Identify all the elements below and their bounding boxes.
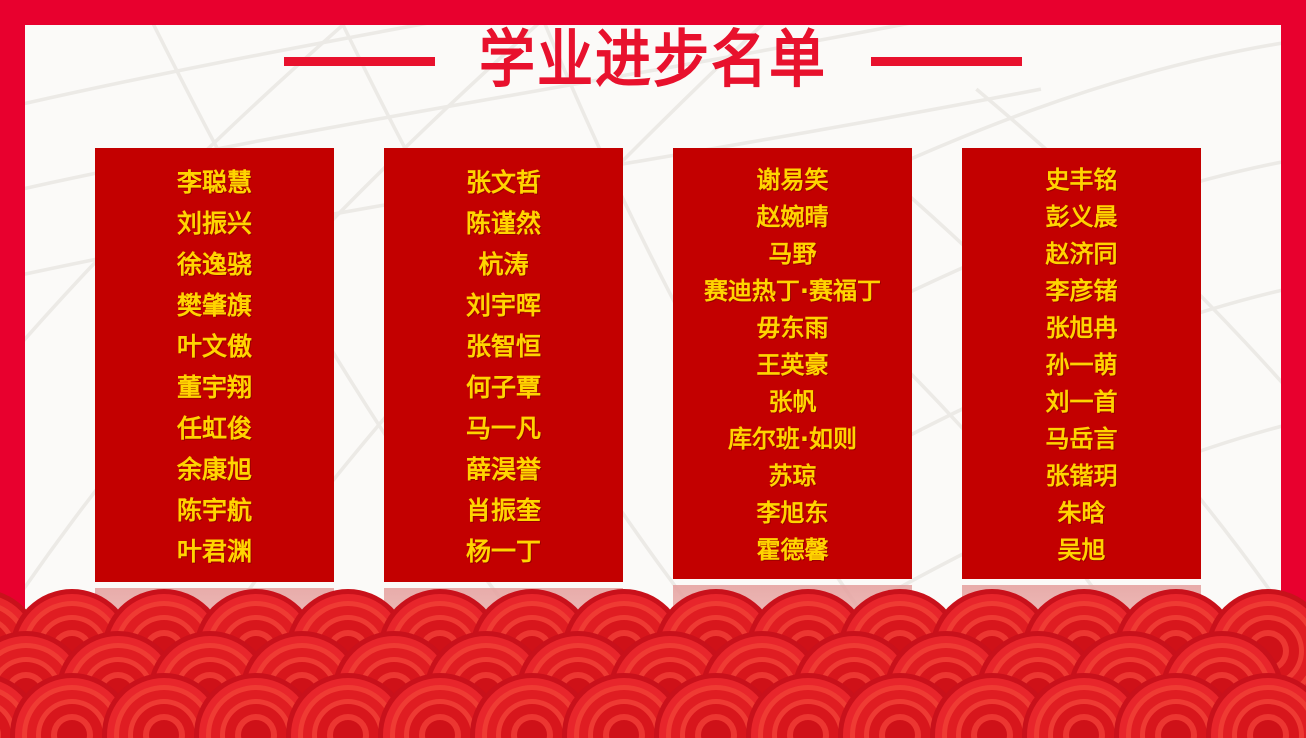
name-item: 毋东雨 — [757, 310, 829, 347]
title-rule-left — [284, 57, 435, 66]
name-item: 叶君渊 — [177, 531, 252, 572]
name-item: 赵济同 — [1046, 236, 1118, 273]
name-panel-2: 张文哲 陈谨然 杭涛 刘宇晖 张智恒 何子覃 马一凡 薛淏誉 肖振奎 杨一丁 — [384, 148, 623, 582]
name-item: 张文哲 — [466, 162, 541, 203]
name-item: 杭涛 — [478, 244, 528, 285]
panel-fade-4 — [962, 585, 1201, 705]
title-rule-right — [871, 57, 1022, 66]
name-item: 徐逸骁 — [177, 244, 252, 285]
poster-frame: 学业进步名单 李聪慧 刘振兴 徐逸骁 樊肇旗 叶文傲 董宇翔 任虹俊 余康旭 陈… — [0, 0, 1306, 738]
name-item: 赵婉晴 — [757, 199, 829, 236]
name-column-2: 张文哲 陈谨然 杭涛 刘宇晖 张智恒 何子覃 马一凡 薛淏誉 肖振奎 杨一丁 — [384, 148, 623, 668]
name-item: 樊肇旗 — [177, 285, 252, 326]
name-item: 朱晗 — [1058, 495, 1106, 532]
title-bar: 学业进步名单 — [0, 33, 1306, 89]
name-item: 张旭冉 — [1046, 310, 1118, 347]
name-item: 董宇翔 — [177, 367, 252, 408]
name-item: 霍德馨 — [757, 532, 829, 569]
name-item: 叶文傲 — [177, 326, 252, 367]
name-item: 王英豪 — [757, 347, 829, 384]
name-item: 杨一丁 — [466, 531, 541, 572]
name-item: 张智恒 — [466, 326, 541, 367]
name-columns: 李聪慧 刘振兴 徐逸骁 樊肇旗 叶文傲 董宇翔 任虹俊 余康旭 陈宇航 叶君渊 … — [95, 148, 1211, 668]
name-item: 张锴玥 — [1046, 458, 1118, 495]
name-item: 陈谨然 — [466, 203, 541, 244]
name-item: 彭义晨 — [1046, 199, 1118, 236]
name-item: 马一凡 — [466, 408, 541, 449]
name-item: 任虹俊 — [177, 408, 252, 449]
name-item: 李旭东 — [757, 495, 829, 532]
name-column-3: 谢易笑 赵婉晴 马野 赛迪热丁·赛福丁 毋东雨 王英豪 张帆 库尔班·如则 苏琼… — [673, 148, 912, 668]
name-item: 马野 — [769, 236, 817, 273]
name-item: 余康旭 — [177, 449, 252, 490]
name-item: 陈宇航 — [177, 490, 252, 531]
name-item: 何子覃 — [466, 367, 541, 408]
panel-fade-2 — [384, 588, 623, 708]
name-item: 薛淏誉 — [466, 449, 541, 490]
name-item: 史丰铭 — [1046, 162, 1118, 199]
name-item: 谢易笑 — [757, 162, 829, 199]
name-panel-3: 谢易笑 赵婉晴 马野 赛迪热丁·赛福丁 毋东雨 王英豪 张帆 库尔班·如则 苏琼… — [673, 148, 912, 579]
panel-fade-3 — [673, 585, 912, 705]
name-column-4: 史丰铭 彭义晨 赵济同 李彦锗 张旭冉 孙一萌 刘一首 马岳言 张锴玥 朱晗 吴… — [962, 148, 1201, 668]
page-title: 学业进步名单 — [479, 30, 827, 93]
name-item: 肖振奎 — [466, 490, 541, 531]
name-item: 李彦锗 — [1046, 273, 1118, 310]
panel-fade-1 — [95, 588, 334, 708]
name-item: 刘一首 — [1046, 384, 1118, 421]
name-column-1: 李聪慧 刘振兴 徐逸骁 樊肇旗 叶文傲 董宇翔 任虹俊 余康旭 陈宇航 叶君渊 — [95, 148, 334, 668]
name-item: 张帆 — [769, 384, 817, 421]
name-item: 刘宇晖 — [466, 285, 541, 326]
name-item: 苏琼 — [769, 458, 817, 495]
name-panel-1: 李聪慧 刘振兴 徐逸骁 樊肇旗 叶文傲 董宇翔 任虹俊 余康旭 陈宇航 叶君渊 — [95, 148, 334, 582]
name-panel-4: 史丰铭 彭义晨 赵济同 李彦锗 张旭冉 孙一萌 刘一首 马岳言 张锴玥 朱晗 吴… — [962, 148, 1201, 579]
name-item: 马岳言 — [1046, 421, 1118, 458]
name-item: 吴旭 — [1058, 532, 1106, 569]
name-item: 库尔班·如则 — [728, 421, 857, 458]
name-item: 李聪慧 — [177, 162, 252, 203]
name-item: 赛迪热丁·赛福丁 — [704, 273, 881, 310]
name-item: 刘振兴 — [177, 203, 252, 244]
name-item: 孙一萌 — [1046, 347, 1118, 384]
